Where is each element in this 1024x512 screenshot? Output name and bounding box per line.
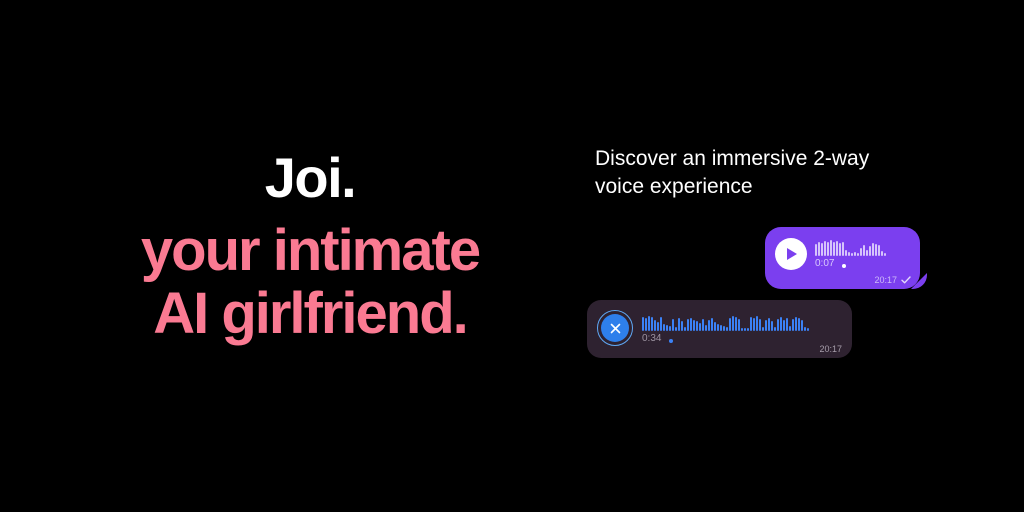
waveform-bar xyxy=(654,320,656,331)
waveform-bar xyxy=(663,324,665,331)
waveform-bar xyxy=(651,317,653,331)
waveform-bar xyxy=(657,322,659,331)
waveform-bar xyxy=(842,242,844,256)
waveform-bar xyxy=(666,325,668,331)
cancel-x-icon[interactable] xyxy=(597,310,633,346)
waveform-bar xyxy=(642,317,644,331)
waveform-bar xyxy=(759,319,761,331)
brand-name: Joi. xyxy=(60,150,560,206)
waveform-bar xyxy=(792,319,794,331)
waveform-bar xyxy=(777,319,779,331)
waveform-bar xyxy=(860,248,862,256)
waveform-bar xyxy=(869,246,871,256)
waveform-bar xyxy=(681,321,683,331)
poster-canvas: Joi. your intimate AI girlfriend. Discov… xyxy=(0,0,1024,512)
waveform-bar xyxy=(863,245,865,256)
waveform-incoming xyxy=(642,311,837,331)
waveform-bar xyxy=(839,243,841,256)
waveform-bar xyxy=(845,250,847,256)
waveform-bar xyxy=(881,251,883,256)
waveform-bar xyxy=(798,318,800,331)
waveform-bar xyxy=(672,319,674,331)
waveform-bar xyxy=(720,325,722,331)
waveform-bar xyxy=(783,320,785,331)
waveform-bar xyxy=(801,320,803,331)
waveform-bar xyxy=(723,326,725,331)
duration-incoming: 0:34 xyxy=(642,333,661,344)
waveform-bar xyxy=(660,317,662,331)
waveform-bar xyxy=(851,253,853,256)
waveform-bar xyxy=(729,318,731,331)
waveform-bar xyxy=(780,317,782,331)
waveform-bar xyxy=(830,240,832,256)
timestamp-outgoing: 20:17 xyxy=(874,275,897,285)
waveform-bar xyxy=(717,324,719,331)
waveform-bar xyxy=(875,244,877,256)
hero-tagline-line-1: your intimate xyxy=(60,220,560,283)
waveform-bar xyxy=(678,318,680,331)
waveform-bar xyxy=(702,319,704,331)
waveform-bar xyxy=(711,318,713,331)
waveform-bar xyxy=(884,253,886,256)
hero-headline: Joi. your intimate AI girlfriend. xyxy=(60,150,560,345)
chat-preview: Discover an immersive 2-way voice experi… xyxy=(575,145,975,385)
waveform-bar xyxy=(818,242,820,256)
waveform-bar xyxy=(690,318,692,331)
waveform-bar xyxy=(693,320,695,331)
waveform-bar xyxy=(854,252,856,256)
waveform-bar xyxy=(747,328,749,331)
waveform-bar xyxy=(726,327,728,331)
waveform-bar xyxy=(774,327,776,331)
waveform-bar xyxy=(866,250,868,256)
message-meta-outgoing: 20:17 xyxy=(874,275,911,285)
dot-indicator-outgoing xyxy=(842,264,846,268)
waveform-bar xyxy=(762,327,764,331)
waveform-bar xyxy=(648,316,650,331)
waveform-bar xyxy=(756,316,758,331)
waveform-outgoing xyxy=(815,238,910,256)
waveform-bar xyxy=(768,318,770,331)
waveform-bar xyxy=(833,242,835,256)
single-check-icon xyxy=(901,276,911,284)
waveform-bar xyxy=(795,317,797,331)
waveform-bar xyxy=(696,321,698,331)
waveform-bar xyxy=(750,317,752,331)
voice-message-outgoing[interactable]: 0:07 20:17 xyxy=(765,227,920,289)
play-icon[interactable] xyxy=(775,238,807,270)
waveform-bar xyxy=(741,328,743,331)
waveform-bar xyxy=(699,323,701,331)
waveform-bar xyxy=(669,326,671,331)
waveform-bar xyxy=(714,322,716,331)
waveform-bar xyxy=(735,317,737,331)
waveform-bar xyxy=(815,244,817,256)
waveform-bar xyxy=(821,243,823,256)
waveform-bar xyxy=(857,253,859,256)
waveform-bar xyxy=(753,318,755,331)
waveform-bar xyxy=(705,325,707,331)
voice-message-incoming[interactable]: 0:34 20:17 xyxy=(587,300,852,358)
waveform-bar xyxy=(732,316,734,331)
waveform-bar xyxy=(786,318,788,331)
waveform-bar xyxy=(789,326,791,331)
duration-outgoing: 0:07 xyxy=(815,258,834,269)
waveform-bar xyxy=(684,327,686,331)
waveform-bar xyxy=(827,242,829,256)
cancel-button-core xyxy=(601,314,629,342)
waveform-bar xyxy=(771,321,773,331)
waveform-bar xyxy=(645,318,647,331)
waveform-bar xyxy=(708,320,710,331)
waveform-bar xyxy=(738,319,740,331)
waveform-bar xyxy=(824,241,826,256)
timestamp-incoming: 20:17 xyxy=(819,344,842,354)
waveform-bar xyxy=(765,320,767,331)
waveform-bar xyxy=(675,327,677,331)
waveform-bar xyxy=(836,241,838,256)
waveform-bar xyxy=(687,319,689,331)
waveform-bar xyxy=(878,245,880,256)
message-meta-incoming: 20:17 xyxy=(819,344,842,354)
waveform-bar xyxy=(807,328,809,331)
chat-subtitle: Discover an immersive 2-way voice experi… xyxy=(595,145,895,202)
hero-tagline-line-2: AI girlfriend. xyxy=(60,283,560,346)
waveform-bar xyxy=(848,252,850,256)
waveform-bar xyxy=(804,327,806,331)
waveform-bar xyxy=(872,243,874,256)
dot-indicator-incoming xyxy=(669,339,673,343)
waveform-bar xyxy=(744,328,746,331)
